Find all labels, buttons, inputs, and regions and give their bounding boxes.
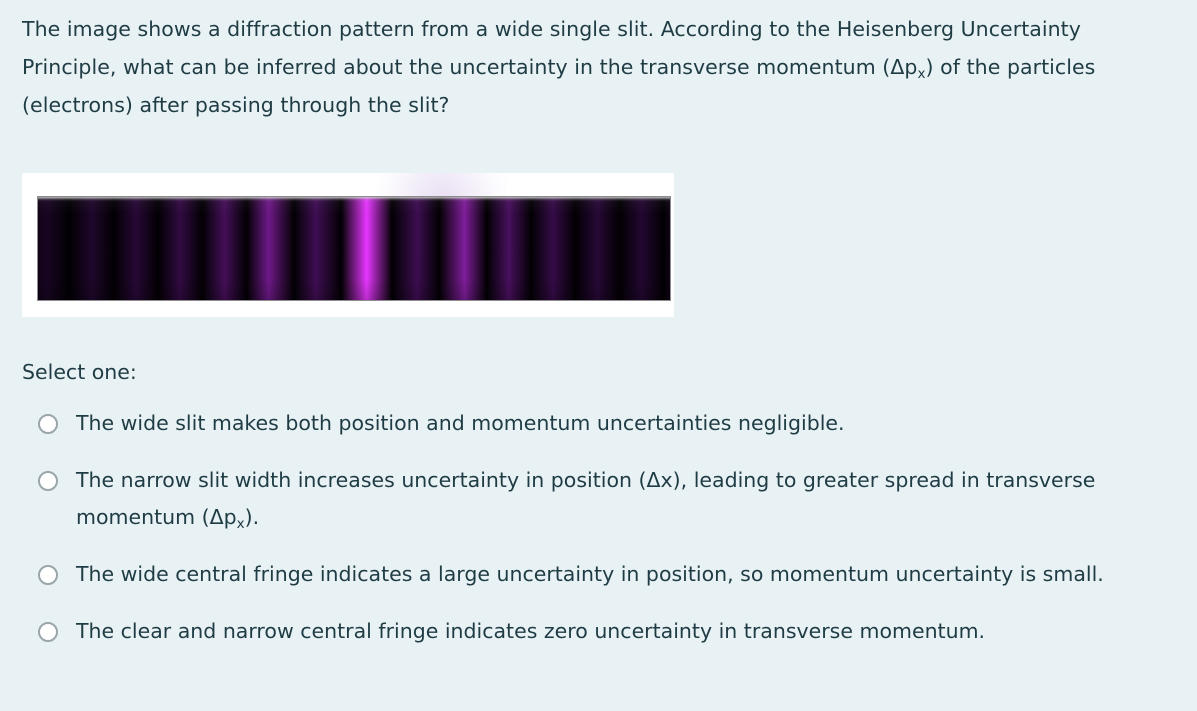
radio-button-a[interactable] (38, 414, 58, 434)
option-b-text-part2: ). (245, 505, 260, 529)
option-d-label[interactable]: The clear and narrow central fringe indi… (76, 613, 985, 650)
diffraction-fringes (38, 197, 670, 300)
diffraction-pattern-canvas (38, 197, 670, 300)
radio-button-b[interactable] (38, 471, 58, 491)
question-stem-subscript: x (917, 66, 925, 82)
radio-button-c[interactable] (38, 565, 58, 585)
options-list: The wide slit makes both position and mo… (22, 405, 1182, 650)
option-b-label[interactable]: The narrow slit width increases uncertai… (76, 462, 1176, 536)
diffraction-pattern-image (37, 196, 671, 301)
option-d[interactable]: The clear and narrow central fringe indi… (22, 613, 1182, 650)
diffraction-figure (22, 173, 674, 317)
option-a-label[interactable]: The wide slit makes both position and mo… (76, 405, 845, 442)
option-b-subscript: x (237, 516, 245, 532)
option-b-text-part1: The narrow slit width increases uncertai… (76, 468, 1095, 529)
radio-button-d[interactable] (38, 622, 58, 642)
select-one-prompt: Select one: (22, 357, 137, 387)
option-c-label[interactable]: The wide central fringe indicates a larg… (76, 556, 1104, 593)
question-stem: The image shows a diffraction pattern fr… (22, 10, 1174, 124)
option-a[interactable]: The wide slit makes both position and mo… (22, 405, 1182, 442)
option-b[interactable]: The narrow slit width increases uncertai… (22, 462, 1182, 536)
question-page: The image shows a diffraction pattern fr… (0, 0, 1197, 711)
option-c[interactable]: The wide central fringe indicates a larg… (22, 556, 1182, 593)
